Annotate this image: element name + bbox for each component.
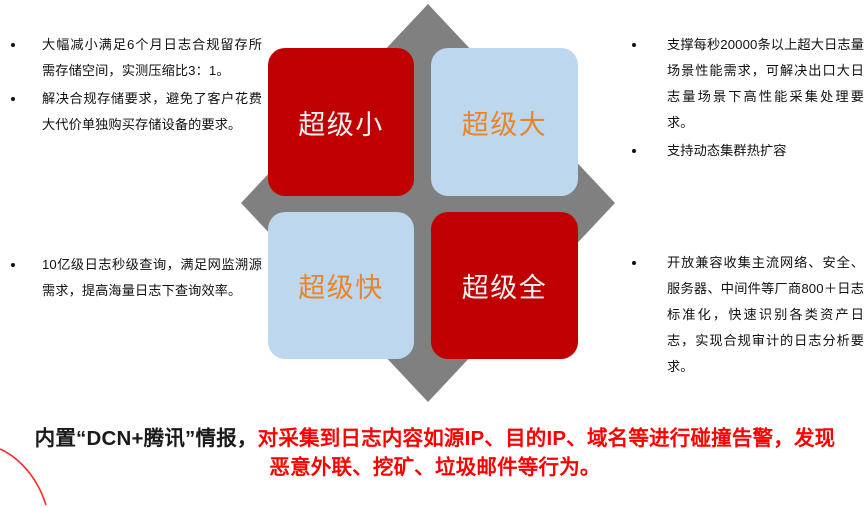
quadrant-label: 超级快: [298, 266, 384, 305]
bottom-caption: 内置“DCN+腾讯”情报，对采集到日志内容如源IP、目的IP、域名等进行碰撞告警…: [30, 424, 840, 482]
list-item: 10亿级日志秒级查询，满足网监溯源需求，提高海量日志下查询效率。: [0, 252, 262, 304]
quadrant-card-super-big[interactable]: 超级大: [431, 48, 578, 196]
bullet-block-bottom-right: 开放兼容收集主流网络、安全、服务器、中间件等厂商800＋日志标准化，快速识别各类…: [620, 250, 864, 382]
list-item: 大幅减小满足6个月日志合规留存所需存储空间，实测压缩比3：1。: [0, 32, 262, 84]
quadrant-card-super-small[interactable]: 超级小: [268, 48, 414, 196]
quadrant-diagram: 超级小 超级大 超级快 超级全: [236, 0, 620, 406]
list-item: 解决合规存储要求，避免了客户花费大代价单独购买存储设备的要求。: [0, 86, 262, 138]
caption-red-segment: 对采集到日志内容如源IP、目的IP、域名等进行碰撞告警，发现恶意外联、挖矿、垃圾…: [258, 427, 836, 479]
quadrant-label: 超级大: [462, 103, 548, 142]
quadrant-label: 超级全: [462, 266, 548, 305]
list-item: 支持动态集群热扩容: [620, 138, 864, 164]
quadrant-label: 超级小: [298, 103, 384, 142]
bullet-block-bottom-left: 10亿级日志秒级查询，满足网监溯源需求，提高海量日志下查询效率。: [0, 252, 262, 306]
quadrant-card-super-fast[interactable]: 超级快: [268, 212, 414, 359]
quadrant-card-super-full[interactable]: 超级全: [431, 212, 578, 359]
list-item: 开放兼容收集主流网络、安全、服务器、中间件等厂商800＋日志标准化，快速识别各类…: [620, 250, 864, 380]
bullet-block-top-left: 大幅减小满足6个月日志合规留存所需存储空间，实测压缩比3：1。 解决合规存储要求…: [0, 32, 262, 140]
caption-black-segment: 内置“DCN+腾讯”情报，: [35, 427, 258, 450]
list-item: 支撑每秒20000条以上超大日志量场景性能需求，可解决出口大日志量场景下高性能采…: [620, 32, 864, 136]
slide-canvas: 大幅减小满足6个月日志合规留存所需存储空间，实测压缩比3：1。 解决合规存储要求…: [0, 0, 864, 491]
bullet-block-top-right: 支撑每秒20000条以上超大日志量场景性能需求，可解决出口大日志量场景下高性能采…: [620, 32, 864, 166]
